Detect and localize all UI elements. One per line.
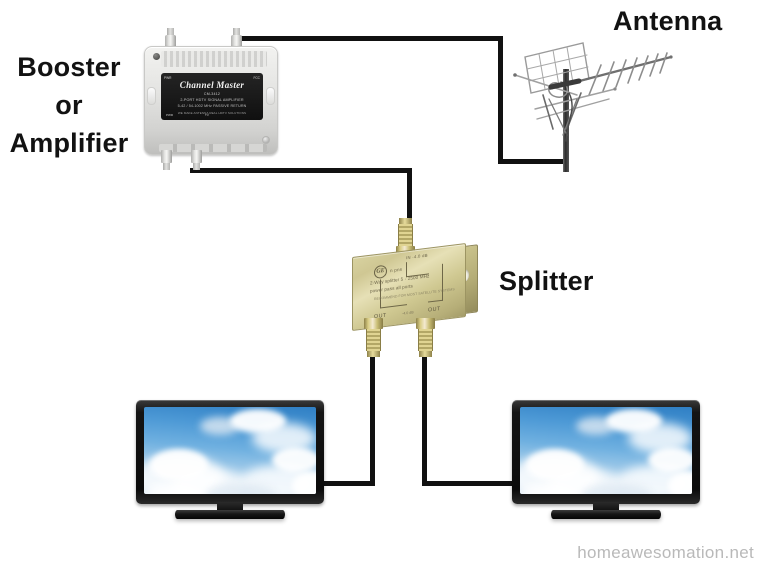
amplifier-mount-slot-left [147, 87, 156, 105]
diagram-canvas: PWR FCC Channel Master CM-3412 2-PORT HD… [0, 0, 768, 571]
splitter-trace-right [428, 264, 443, 303]
label-antenna: Antenna [613, 6, 722, 37]
amplifier-mount-slot-right [266, 87, 275, 105]
label-booster-line-3: Amplifier [0, 124, 138, 162]
splitter-out-label-right: OUT [428, 306, 441, 314]
label-booster-line-2: or [0, 86, 138, 124]
television-right-bezel [512, 400, 700, 504]
antenna-elements-icon [505, 37, 680, 172]
splitter-port-out-left [364, 318, 383, 357]
television-left-bezel [136, 400, 324, 504]
amplifier-connector-bottom-left [161, 150, 172, 170]
splitter-db-label: -4.0 dB [402, 310, 414, 315]
antenna-device [505, 37, 680, 172]
television-left-screen [144, 407, 316, 494]
cable-splitter-to-tv-right-seg-horizontal [422, 481, 518, 486]
splitter-model: n pns [390, 267, 402, 274]
amplifier-connector-bottom-right [191, 150, 202, 170]
label-booster-or-amplifier: Booster or Amplifier [0, 48, 138, 162]
television-right [512, 400, 700, 522]
amplifier-port-label-right: TV [205, 114, 209, 118]
amplifier-heat-fins [161, 51, 267, 67]
cable-splitter-to-tv-left-seg-vertical [370, 352, 375, 483]
amplifier-bottom-vent [159, 144, 267, 152]
television-left [136, 400, 324, 522]
cable-amplifier-to-splitter-seg-horizontal [190, 168, 412, 173]
splitter-face-labels: IN -4.0 dB GE n pns 2-Way splitter 5 - 2… [358, 248, 458, 324]
television-right-screen [520, 407, 692, 494]
amplifier-connector-top-right [231, 28, 242, 48]
amplifier-housing: PWR FCC Channel Master CM-3412 2-PORT HD… [144, 46, 278, 155]
cable-antenna-to-amplifier-seg-vertical-right [498, 36, 503, 164]
amplifier-device: PWR FCC Channel Master CM-3412 2-PORT HD… [139, 28, 281, 168]
amplifier-connector-top-left [165, 28, 176, 48]
amplifier-label-plate: PWR FCC Channel Master CM-3412 2-PORT HD… [161, 73, 263, 120]
label-booster-line-1: Booster [0, 48, 138, 86]
watermark-site-url: homeawesomation.net [577, 543, 754, 563]
amplifier-model: CM-3412 [161, 92, 263, 96]
label-splitter: Splitter [499, 266, 594, 297]
amplifier-led-indicator [153, 53, 160, 60]
splitter-ge-logo: GE [374, 265, 387, 280]
cable-splitter-to-tv-right-seg-vertical [422, 352, 427, 483]
television-left-stand-base [175, 510, 285, 519]
amplifier-spec-line-3: WE MAKE ANTENNA REAL HDTV SOLUTIONS [161, 111, 263, 115]
amplifier-spec-line-2: 5-42 / 54-1002 MHz PASSIVE RETURN [161, 104, 263, 108]
amplifier-brand: Channel Master [161, 80, 263, 90]
splitter-device: IN -4.0 dB GE n pns 2-Way splitter 5 - 2… [352, 218, 482, 363]
amplifier-screw [262, 136, 270, 144]
amplifier-spec-line-1: 2-PORT HDTV SIGNAL AMPLIFIER [161, 98, 263, 102]
amplifier-port-label-left: PWR [166, 114, 173, 118]
splitter-port-out-right [416, 318, 435, 357]
television-right-stand-base [551, 510, 661, 519]
